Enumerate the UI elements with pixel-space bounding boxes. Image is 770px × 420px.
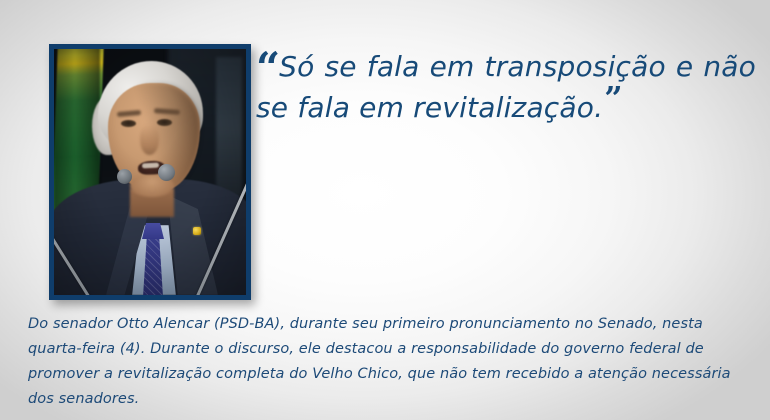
- caption-text: Do senador Otto Alencar (PSD-BA), durant…: [28, 312, 740, 412]
- quote-close-mark: ”: [604, 79, 620, 117]
- microphone-head-right: [158, 164, 175, 181]
- quote-card: “Só se fala em transposição e não se fal…: [0, 0, 770, 420]
- senator-photo: [54, 49, 246, 295]
- teeth: [142, 163, 159, 169]
- photo-back-rail: [216, 57, 242, 197]
- eye-left: [121, 120, 136, 127]
- quote-open-mark: “: [256, 43, 278, 92]
- eye-right: [157, 119, 172, 126]
- quote-block: “Só se fala em transposição e não se fal…: [256, 46, 756, 128]
- nose: [140, 125, 159, 155]
- senator-photo-frame: [49, 44, 251, 300]
- quote-paragraph: “Só se fala em transposição e não se fal…: [256, 46, 756, 128]
- microphone-head-left: [117, 169, 132, 184]
- quote-body-text: Só se fala em transposição e não se fala…: [256, 50, 756, 124]
- lapel-pin-icon: [193, 227, 201, 235]
